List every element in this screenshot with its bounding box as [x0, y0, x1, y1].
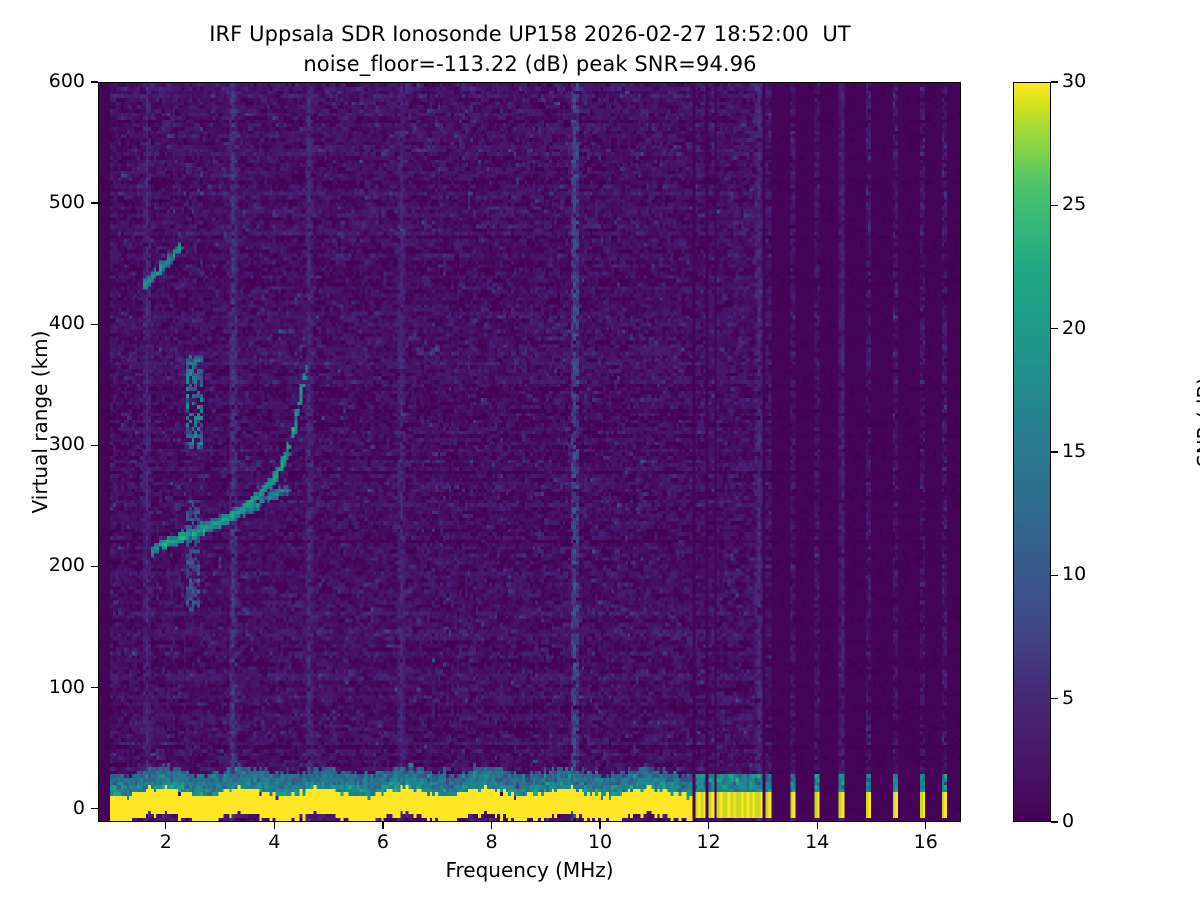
colorbar-tick-mark: [1051, 698, 1058, 699]
colorbar-tick-label-0: 0: [1062, 812, 1074, 831]
x-tick-mark: [817, 822, 818, 829]
x-tick-mark: [165, 822, 166, 829]
colorbar-tick-label-10: 10: [1062, 565, 1086, 584]
x-tick-label-2: 2: [136, 833, 196, 852]
x-tick-mark: [708, 822, 709, 829]
x-tick-mark: [274, 822, 275, 829]
colorbar-tick-label-5: 5: [1062, 689, 1074, 708]
x-tick-label-8: 8: [462, 833, 522, 852]
y-tick-label-200: 200: [5, 556, 85, 575]
colorbar-tick-label-30: 30: [1062, 72, 1086, 91]
colorbar: [1013, 82, 1051, 822]
y-tick-mark: [91, 808, 98, 809]
y-tick-label-100: 100: [5, 678, 85, 697]
x-tick-label-14: 14: [787, 833, 847, 852]
colorbar-tick-mark: [1051, 81, 1058, 82]
x-tick-mark: [382, 822, 383, 829]
y-axis-label: Virtual range (km): [28, 292, 52, 552]
ionogram-figure: { "title": { "line1": "IRF Uppsala SDR I…: [0, 0, 1200, 900]
colorbar-tick-label-15: 15: [1062, 442, 1086, 461]
colorbar-tick-label-25: 25: [1062, 195, 1086, 214]
x-tick-label-4: 4: [244, 833, 304, 852]
x-tick-mark: [599, 822, 600, 829]
y-tick-mark: [91, 81, 98, 82]
y-tick-mark: [91, 445, 98, 446]
colorbar-label: SNR (dB): [1193, 302, 1200, 542]
y-tick-mark: [91, 324, 98, 325]
ionogram-plot-area: [98, 82, 961, 822]
figure-title-line2: noise_floor=-113.22 (dB) peak SNR=94.96: [0, 52, 1060, 76]
colorbar-tick-label-20: 20: [1062, 319, 1086, 338]
y-tick-label-500: 500: [5, 193, 85, 212]
colorbar-tick-mark: [1051, 821, 1058, 822]
x-tick-label-10: 10: [570, 833, 630, 852]
x-axis-label: Frequency (MHz): [98, 858, 961, 882]
colorbar-tick-mark: [1051, 205, 1058, 206]
y-tick-mark: [91, 687, 98, 688]
x-tick-mark: [925, 822, 926, 829]
y-tick-label-600: 600: [5, 72, 85, 91]
ionogram-heatmap: [99, 83, 960, 821]
y-tick-label-0: 0: [5, 799, 85, 818]
x-tick-label-16: 16: [896, 833, 956, 852]
y-tick-mark: [91, 202, 98, 203]
colorbar-tick-mark: [1051, 328, 1058, 329]
colorbar-tick-mark: [1051, 451, 1058, 452]
y-tick-mark: [91, 566, 98, 567]
x-tick-label-12: 12: [679, 833, 739, 852]
x-tick-mark: [491, 822, 492, 829]
colorbar-tick-mark: [1051, 575, 1058, 576]
figure-title-line1: IRF Uppsala SDR Ionosonde UP158 2026-02-…: [0, 22, 1060, 46]
x-tick-label-6: 6: [353, 833, 413, 852]
